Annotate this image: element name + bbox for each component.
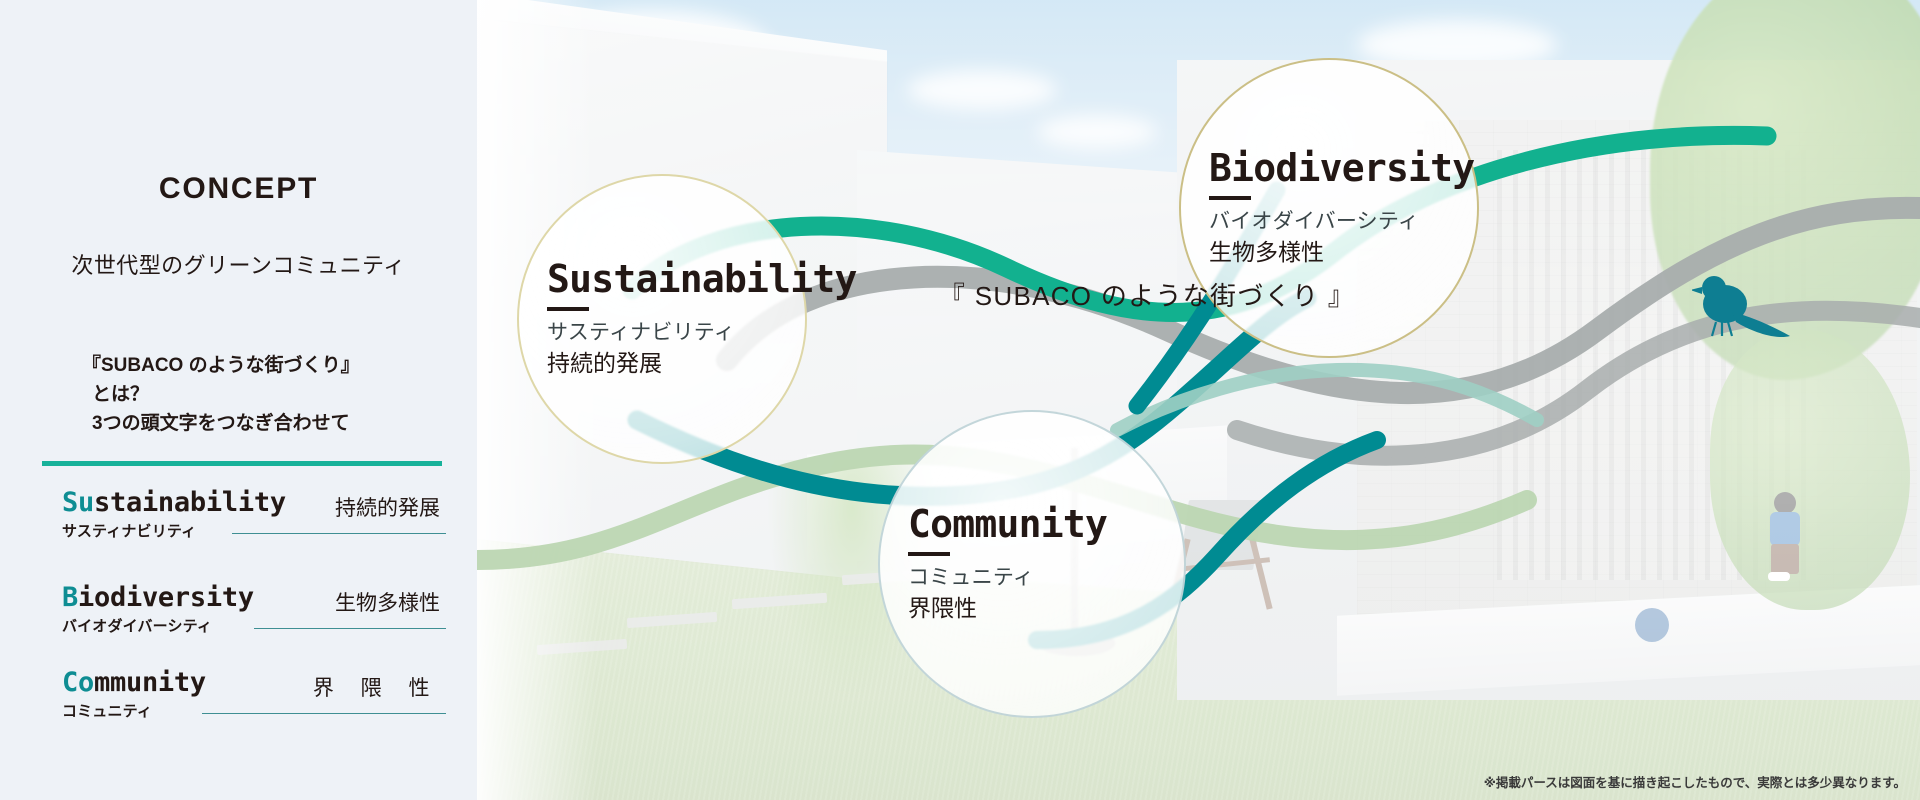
legend-initial: Co [62,667,94,698]
legend-item-biodiversity: Biodiversity 生物多様性 バイオダイバーシティ [42,582,446,660]
circle-rule [1209,196,1251,200]
circle-rule [547,307,589,311]
circle-en-sustainability: Sustainability [519,260,805,298]
circle-kana-biodiversity: バイオダイバーシティ [1181,207,1477,237]
circle-jp-sustainability: 持続的発展 [519,348,805,379]
center-tagline: 『 SUBACO のような街づくり 』 [807,276,1487,313]
page-subtitle: 次世代型のグリーンコミュニティ [0,248,477,280]
legend-rest: stainability [94,487,286,518]
legend-kana-biodiversity: バイオダイバーシティ [62,615,212,636]
legend-initial: B [62,582,78,613]
lead-line-2: とは？ [82,381,482,410]
left-info-panel: CONCEPT 次世代型のグリーンコミュニティ 『SUBACO のような街づくり… [0,0,477,800]
legend-underline [232,533,446,534]
legend-underline [202,713,446,714]
legend-initial: Su [62,487,94,518]
circle-jp-biodiversity: 生物多様性 [1181,237,1477,268]
legend-kana-community: コミュニティ [62,700,152,721]
concept-page: CONCEPT 次世代型のグリーンコミュニティ 『SUBACO のような街づくり… [0,0,1920,800]
circle-en-community: Community [880,505,1184,543]
legend-underline [254,628,446,629]
circle-kana-sustainability: サスティナビリティ [519,318,805,348]
lead-line-3: 3つの頭文字をつなぎ合わせて [82,410,482,439]
circle-rule [908,552,950,556]
accent-divider [42,461,442,466]
page-title: CONCEPT [0,172,477,206]
legend-jp-community: 界 隈 性 [313,672,440,702]
circle-kana-community: コミュニティ [880,563,1184,593]
hero-photo: Sustainability サスティナビリティ 持続的発展 Biodivers… [477,0,1920,800]
circle-biodiversity[interactable]: Biodiversity バイオダイバーシティ 生物多様性 [1179,58,1479,358]
disclaimer-note: ※掲載パースは図面を基に描き起こしたもので、実際とは多少異なります。 [1484,772,1906,791]
circle-sustainability[interactable]: Sustainability サスティナビリティ 持続的発展 [517,174,807,464]
legend-en-community: Community [62,667,206,698]
legend-item-community: Community 界 隈 性 コミュニティ [42,667,446,745]
legend-item-sustainability: Sustainability 持続的発展 サスティナビリティ [42,487,446,565]
legend-jp-sustainability: 持続的発展 [335,492,440,522]
circle-community[interactable]: Community コミュニティ 界隈性 [878,410,1186,718]
legend-kana-sustainability: サスティナビリティ [62,520,196,541]
circle-jp-community: 界隈性 [880,593,1184,624]
legend-rest: iodiversity [78,582,254,613]
legend-en-biodiversity: Biodiversity [62,582,254,613]
legend-rest: mmunity [94,667,206,698]
lead-line-1: 『SUBACO のような街づくり』 [82,352,482,381]
circle-en-biodiversity: Biodiversity [1181,149,1477,187]
legend-jp-biodiversity: 生物多様性 [335,587,440,617]
lead-text: 『SUBACO のような街づくり』 とは？ 3つの頭文字をつなぎ合わせて [82,352,482,439]
bird-icon [1692,270,1802,350]
legend-en-sustainability: Sustainability [62,487,286,518]
